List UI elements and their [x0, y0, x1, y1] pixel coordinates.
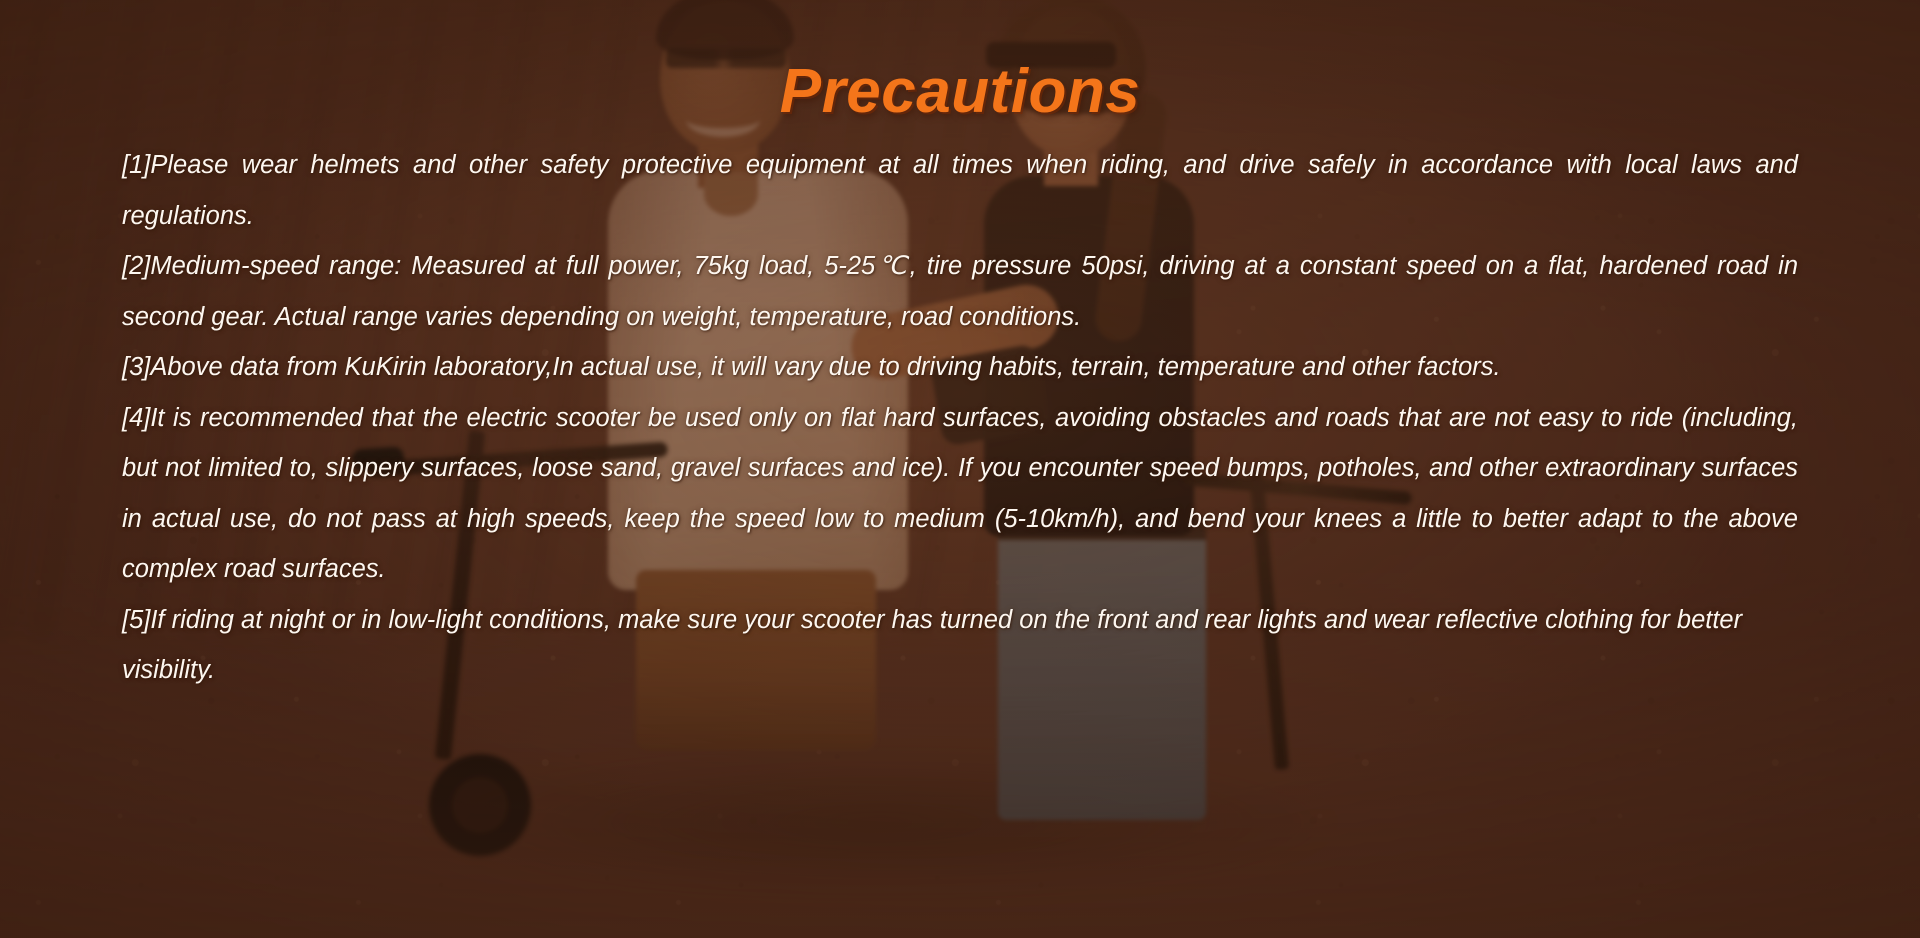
precaution-item-4: [4]It is recommended that the electric s… — [122, 393, 1798, 595]
precaution-item-5: [5]If riding at night or in low-light co… — [122, 595, 1798, 696]
precaution-item-2: [2]Medium-speed range: Measured at full … — [122, 241, 1798, 342]
page-title: Precautions — [0, 56, 1920, 127]
precaution-item-1: [1]Please wear helmets and other safety … — [122, 140, 1798, 241]
precautions-list: [1]Please wear helmets and other safety … — [122, 140, 1798, 696]
slide-content: Precautions [1]Please wear helmets and o… — [0, 0, 1920, 938]
precaution-item-3: [3]Above data from KuKirin laboratory,In… — [122, 342, 1798, 393]
precautions-slide: Precautions [1]Please wear helmets and o… — [0, 0, 1920, 938]
